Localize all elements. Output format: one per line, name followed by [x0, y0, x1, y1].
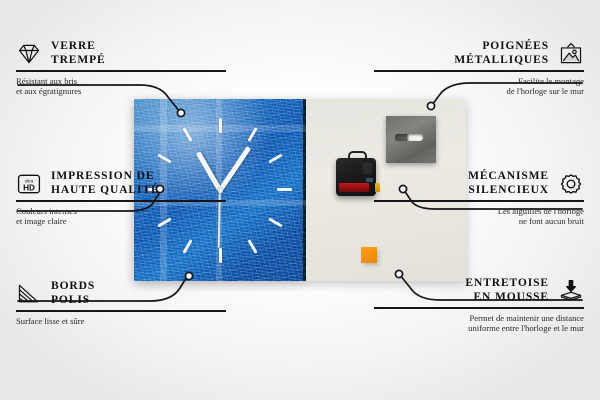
feature-header: POIGNÉES MÉTALLIQUES: [374, 40, 584, 67]
feature-subtitle-line2: et aux égratignures: [16, 86, 226, 97]
feature-subtitle-line2: uniforme entre l'horloge et le mur: [374, 323, 584, 334]
title-rule: [374, 307, 584, 309]
gear-icon: [558, 172, 584, 196]
hour-tick: [182, 239, 192, 253]
ultra-hd-icon-large-text: HD: [23, 183, 35, 192]
battery: [339, 183, 369, 192]
feature-title: VERRE TREMPÉ: [51, 40, 106, 67]
clock-mechanism: [336, 158, 376, 196]
metal-hanger-plate: [386, 116, 436, 163]
feature-bords-polis: BORDS POLIS Surface lisse et sûre: [16, 280, 226, 326]
feature-subtitle-line1: Permet de maintenir une distance: [374, 313, 584, 324]
title-rule: [374, 200, 584, 202]
feature-subtitle-line1: Les aiguilles de l'horloge: [374, 206, 584, 217]
mechanism-detail: [366, 178, 373, 182]
title-rule: [374, 70, 584, 72]
ultra-hd-icon-small-text: ultra: [25, 178, 34, 183]
hour-tick: [268, 217, 282, 227]
hour-tick: [219, 248, 222, 263]
pattern-line: [134, 125, 306, 132]
title-rule: [16, 70, 226, 72]
feature-subtitle-line1: Facilite le montage: [374, 76, 584, 87]
hour-tick: [247, 239, 257, 253]
mechanism-detail: [363, 163, 372, 174]
ultra-hd-icon: ultra HD: [16, 172, 42, 196]
feature-title: IMPRESSION DE HAUTE QUALITÉ: [51, 170, 160, 197]
feature-header: VERRE TREMPÉ: [16, 40, 226, 67]
hour-tick: [182, 127, 192, 141]
feature-verre-trempe: VERRE TREMPÉ Résistant aux bris et aux é…: [16, 40, 226, 97]
hour-tick: [219, 118, 222, 133]
mechanism-hook: [348, 151, 367, 162]
feature-poignees-metalliques: POIGNÉES MÉTALLIQUES Facilite le montage…: [374, 40, 584, 97]
hanger-slot: [395, 134, 423, 141]
feature-entretoise-en-mousse: ENTRETOISE EN MOUSSE Permet de maintenir…: [374, 277, 584, 334]
feature-mecanisme-silencieux: MÉCANISME SILENCIEUX Les aiguilles de l'…: [374, 170, 584, 227]
feature-subtitle-line1: Couleurs intenses: [16, 206, 226, 217]
feature-header: MÉCANISME SILENCIEUX: [374, 170, 584, 197]
feature-impression-haute-qualite: ultra HD IMPRESSION DE HAUTE QUALITÉ Cou…: [16, 170, 226, 227]
foam-spacer: [361, 247, 377, 263]
feature-header: ultra HD IMPRESSION DE HAUTE QUALITÉ: [16, 170, 226, 197]
infographic-canvas: VERRE TREMPÉ Résistant aux bris et aux é…: [0, 0, 600, 400]
feature-title: MÉCANISME SILENCIEUX: [468, 170, 549, 197]
picture-hanger-icon: [558, 42, 584, 66]
title-rule: [16, 310, 226, 312]
feature-title: BORDS POLIS: [51, 280, 95, 307]
hour-tick: [277, 188, 292, 191]
feature-header: ENTRETOISE EN MOUSSE: [374, 277, 584, 304]
foam-spacer-icon: [558, 279, 584, 303]
polished-edge-icon: [16, 282, 42, 306]
title-rule: [16, 200, 226, 202]
feature-subtitle-line1: Surface lisse et sûre: [16, 316, 226, 327]
hour-tick: [247, 127, 257, 141]
diamond-icon: [16, 42, 42, 66]
feature-subtitle-line1: Résistant aux bris: [16, 76, 226, 87]
hour-tick: [157, 153, 171, 163]
feature-subtitle-line2: et image claire: [16, 216, 226, 227]
feature-title: POIGNÉES MÉTALLIQUES: [454, 40, 549, 67]
hour-tick: [268, 153, 282, 163]
feature-title: ENTRETOISE EN MOUSSE: [465, 277, 549, 304]
feature-header: BORDS POLIS: [16, 280, 226, 307]
feature-subtitle-line2: de l'horloge sur le mur: [374, 86, 584, 97]
feature-subtitle-line2: ne font aucun bruit: [374, 216, 584, 227]
